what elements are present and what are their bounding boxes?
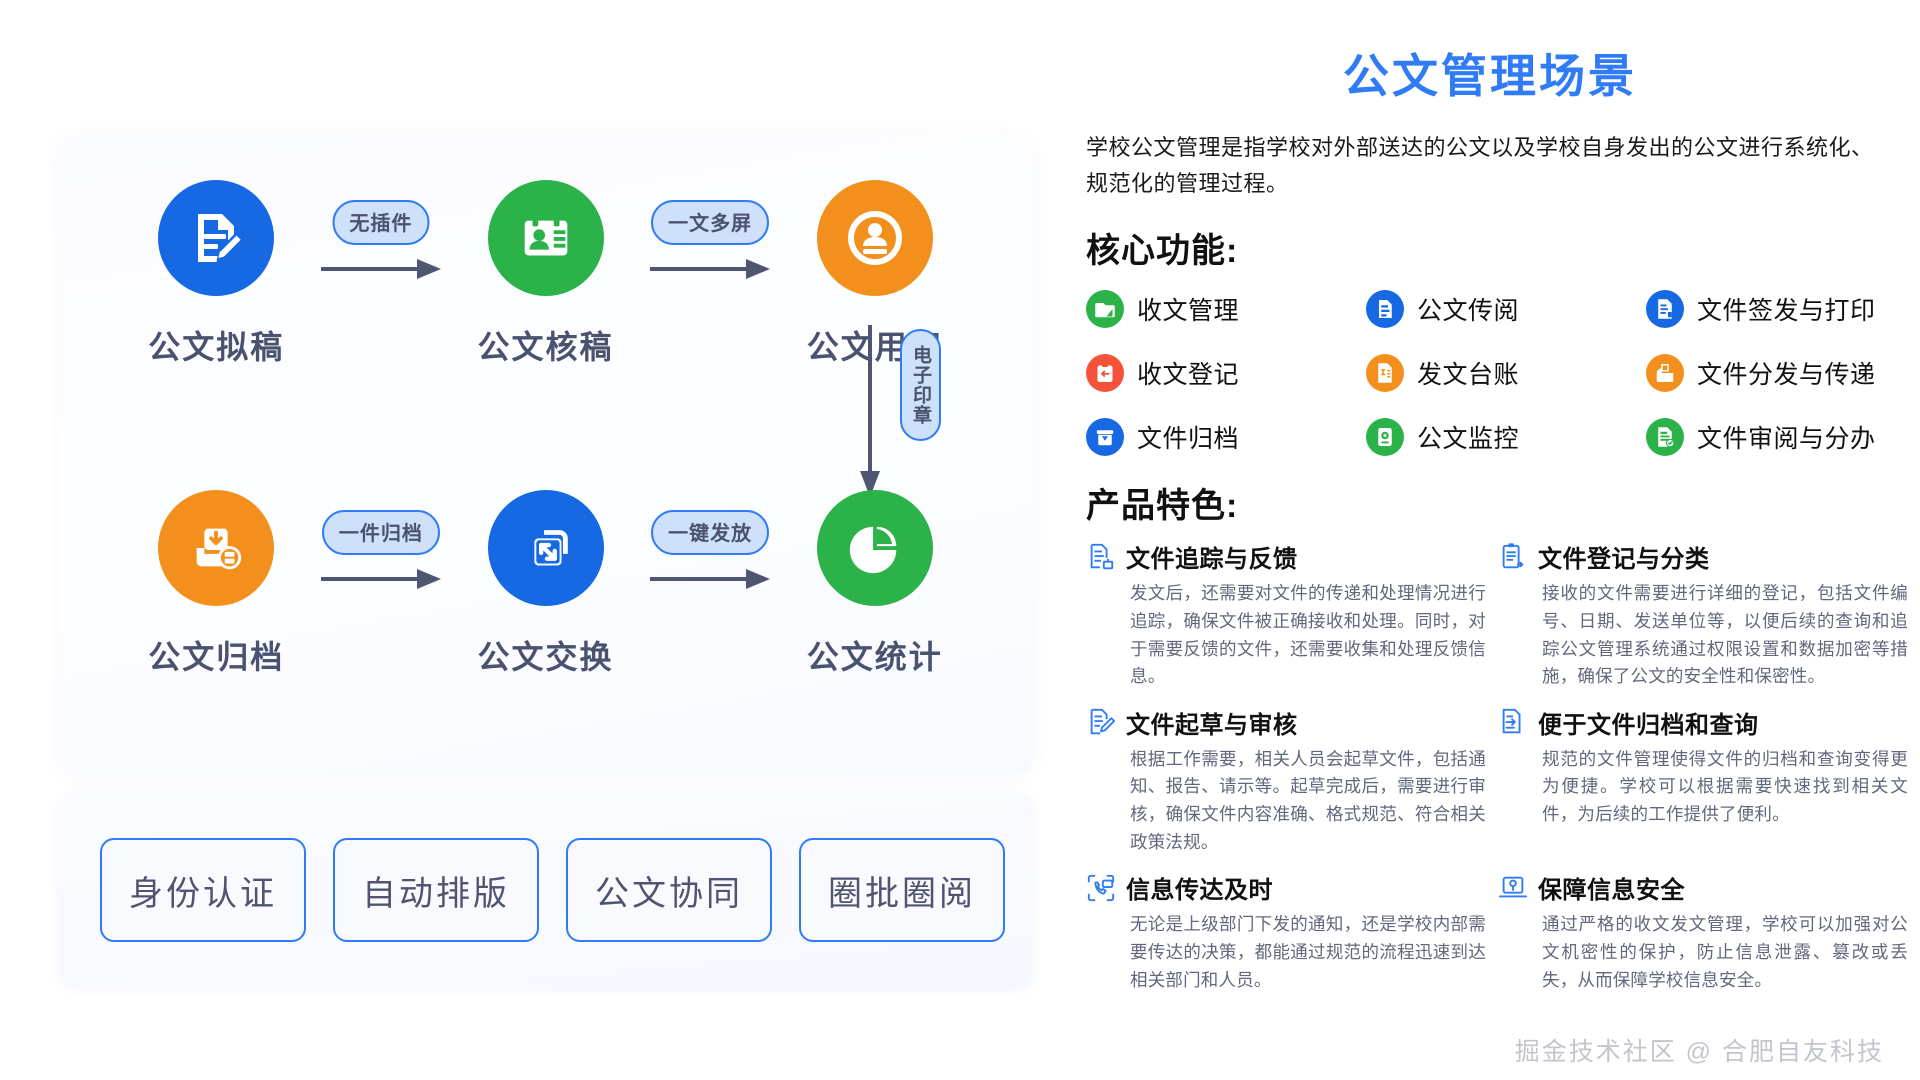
flow-node-label: 公文交换 <box>478 632 614 678</box>
flow-connector-2: 一文多屏 <box>644 180 777 310</box>
feature-header: 便于文件归档和查询 <box>1498 705 1908 740</box>
feature-header: 文件追踪与反馈 <box>1086 539 1486 574</box>
flow-node-label: 公文归档 <box>148 632 284 678</box>
feature-xinxichuandajishi: 信息传达及时 无论是上级部门下发的通知，还是学校内部需要传达的决策，都能通过规范… <box>1086 870 1486 994</box>
node-circle-4 <box>158 490 274 606</box>
message-phone-icon <box>1086 873 1116 903</box>
right-content-panel: 公文管理场景 学校公文管理是指学校对外部送达的公文以及学校自身发出的公文进行系统… <box>1060 0 1920 1080</box>
node-circle-5 <box>488 490 604 606</box>
monitor-eye-icon <box>1366 418 1404 456</box>
doc-edit-icon <box>184 206 248 270</box>
feature-wenjiandengjiyufenlei: 文件登记与分类 接收的文件需要进行详细的登记，包括文件编号、日期、发送单位等，以… <box>1498 539 1908 691</box>
laptop-lock-icon <box>1498 873 1528 903</box>
core-functions-heading: 核心功能: <box>1086 223 1920 272</box>
seal-stamp-icon <box>843 206 907 270</box>
feature-title: 文件追踪与反馈 <box>1126 539 1298 574</box>
flow-connector-4: 一键发放 <box>644 490 777 620</box>
core-function-shouwendengji[interactable]: 收文登记 <box>1086 354 1366 392</box>
tag-button-quanpiquanyue[interactable]: 圈批圈阅 <box>799 838 1005 942</box>
flow-node-gongwen-guidang[interactable]: 公文归档 <box>118 490 315 678</box>
flow-node-label: 公文拟稿 <box>148 322 284 368</box>
connector-pill-label-vertical: 电子印章 <box>900 329 941 441</box>
flow-node-label: 公文统计 <box>807 632 943 678</box>
tag-button-gongwenxietong[interactable]: 公文协同 <box>566 838 772 942</box>
feature-tag-list: 身份认证 自动排版 公文协同 圈批圈阅 <box>100 838 1005 942</box>
core-function-shouwenguanli[interactable]: 收文管理 <box>1086 290 1366 328</box>
doc-circulate-icon <box>1366 290 1404 328</box>
feature-body: 无论是上级部门下发的通知，还是学校内部需要传达的决策，都能通过规范的流程迅速到达… <box>1130 911 1486 994</box>
core-function-label: 文件归档 <box>1137 419 1239 455</box>
page-root: 公文拟稿 无插件 <box>0 0 1920 1080</box>
core-function-gongwenchuanyue[interactable]: 公文传阅 <box>1366 290 1646 328</box>
core-function-wenjianfenfayuchuandi[interactable]: 文件分发与传递 <box>1646 354 1920 392</box>
review-assign-icon <box>1646 418 1684 456</box>
arrow-right-icon <box>650 258 770 285</box>
pie-chart-icon <box>844 517 906 579</box>
feature-title: 文件起草与审核 <box>1126 705 1298 740</box>
archive-box-icon <box>1086 418 1124 456</box>
feature-body: 根据工作需要，相关人员会起草文件，包括通知、报告、请示等。起草完成后，需要进行审… <box>1130 746 1486 857</box>
flow-connector-vertical: 电子印章 <box>838 325 988 505</box>
feature-header: 文件登记与分类 <box>1498 539 1908 574</box>
flow-node-gongwen-jiaohuan[interactable]: 公文交换 <box>447 490 644 678</box>
doc-register-icon <box>1498 542 1528 572</box>
feature-title: 便于文件归档和查询 <box>1538 705 1759 740</box>
core-function-gongwenjiankong[interactable]: 公文监控 <box>1366 418 1646 456</box>
exchange-screens-icon <box>515 517 577 579</box>
connector-pill-label: 一键发放 <box>651 510 769 555</box>
flow-node-gongwen-tongji[interactable]: 公文统计 <box>776 490 973 678</box>
connector-pill-label: 一文多屏 <box>651 200 769 245</box>
flow-node-gongwen-hegao[interactable]: 公文核稿 <box>447 180 644 368</box>
feature-tags-card: 身份认证 自动排版 公文协同 圈批圈阅 <box>58 790 1033 990</box>
node-circle-3 <box>817 180 933 296</box>
scene-description: 学校公文管理是指学校对外部送达的公文以及学校自身发出的公文进行系统化、规范化的管… <box>1086 130 1894 201</box>
node-circle-1 <box>158 180 274 296</box>
feature-wenjianzhuizongyufankui: 文件追踪与反馈 发文后，还需要对文件的传递和处理情况进行追踪，确保文件被正确接收… <box>1086 539 1486 691</box>
feature-body: 接收的文件需要进行详细的登记，包括文件编号、日期、发送单位等，以便后续的查询和追… <box>1542 580 1908 691</box>
connector-pill-label: 一件归档 <box>322 510 440 555</box>
feature-wenjianqicaoyushenhe: 文件起草与审核 根据工作需要，相关人员会起草文件，包括通知、报告、请示等。起草完… <box>1086 705 1486 857</box>
core-function-label: 收文管理 <box>1137 291 1239 327</box>
core-function-label: 收文登记 <box>1137 355 1239 391</box>
distribute-box-icon <box>1646 354 1684 392</box>
watermark-text: 掘金技术社区 @ 合肥自友科技 <box>1515 1032 1884 1068</box>
id-card-icon <box>515 207 577 269</box>
flow-node-label: 公文核稿 <box>478 322 614 368</box>
feature-header: 保障信息安全 <box>1498 870 1908 905</box>
core-function-label: 文件审阅与分办 <box>1697 419 1876 455</box>
doc-archive-search-icon <box>1498 707 1528 737</box>
core-function-wenjianshenyueyufenban[interactable]: 文件审阅与分办 <box>1646 418 1920 456</box>
core-function-label: 发文台账 <box>1417 355 1519 391</box>
connector-pill-label: 无插件 <box>332 200 429 245</box>
feature-title: 保障信息安全 <box>1538 870 1685 905</box>
core-function-wenjianguidang[interactable]: 文件归档 <box>1086 418 1366 456</box>
feature-title: 信息传达及时 <box>1126 870 1273 905</box>
tag-button-zidongpaiban[interactable]: 自动排版 <box>333 838 539 942</box>
feature-body: 通过严格的收文发文管理，学校可以加强对公文机密性的保护，防止信息泄露、篡改或丢失… <box>1542 911 1908 994</box>
folder-in-icon <box>1086 290 1124 328</box>
core-function-label: 文件分发与传递 <box>1697 355 1876 391</box>
flow-connector-3: 一件归档 <box>315 490 448 620</box>
flow-connector-1: 无插件 <box>315 180 448 310</box>
core-function-label: 文件签发与打印 <box>1697 291 1876 327</box>
core-function-wenjianqianfayudayin[interactable]: 文件签发与打印 <box>1646 290 1920 328</box>
archive-inbox-icon <box>185 517 247 579</box>
arrow-right-icon <box>321 258 441 285</box>
flow-diagram-card: 公文拟稿 无插件 <box>58 135 1033 775</box>
flow-row-2: 公文归档 一件归档 <box>118 490 973 678</box>
feature-baozhangxinxianquan: 保障信息安全 通过严格的收文发文管理，学校可以加强对公文机密性的保护，防止信息泄… <box>1498 870 1908 994</box>
doc-draft-icon <box>1086 707 1116 737</box>
arrow-down-icon <box>858 325 882 502</box>
product-features-grid: 文件追踪与反馈 发文后，还需要对文件的传递和处理情况进行追踪，确保文件被正确接收… <box>1086 539 1920 994</box>
feature-body: 发文后，还需要对文件的传递和处理情况进行追踪，确保文件被正确接收和处理。同时，对… <box>1130 580 1486 691</box>
core-functions-grid: 收文管理 公文传阅 <box>1086 290 1920 456</box>
feature-header: 信息传达及时 <box>1086 870 1486 905</box>
node-circle-6 <box>817 490 933 606</box>
tag-button-shenfenrenzheng[interactable]: 身份认证 <box>100 838 306 942</box>
feature-header: 文件起草与审核 <box>1086 705 1486 740</box>
page-title: 公文管理场景 <box>1060 40 1920 106</box>
arrow-right-icon <box>321 568 441 595</box>
left-flow-panel: 公文拟稿 无插件 <box>0 0 1060 1080</box>
node-circle-2 <box>488 180 604 296</box>
feature-title: 文件登记与分类 <box>1538 539 1710 574</box>
register-clipboard-icon <box>1086 354 1124 392</box>
arrow-right-icon <box>650 568 770 595</box>
doc-track-icon <box>1086 542 1116 572</box>
core-function-label: 公文传阅 <box>1417 291 1519 327</box>
doc-sign-print-icon <box>1646 290 1684 328</box>
flow-node-gongwen-nigao[interactable]: 公文拟稿 <box>118 180 315 368</box>
excel-ledger-icon <box>1366 354 1404 392</box>
feature-body: 规范的文件管理使得文件的归档和查询变得更为便捷。学校可以根据需要快速找到相关文件… <box>1542 746 1908 829</box>
core-function-label: 公文监控 <box>1417 419 1519 455</box>
product-features-heading: 产品特色: <box>1086 478 1920 527</box>
core-function-fawentaizhang[interactable]: 发文台账 <box>1366 354 1646 392</box>
feature-bianyuwenjianguidanghechaxun: 便于文件归档和查询 规范的文件管理使得文件的归档和查询变得更为便捷。学校可以根据… <box>1498 705 1908 857</box>
